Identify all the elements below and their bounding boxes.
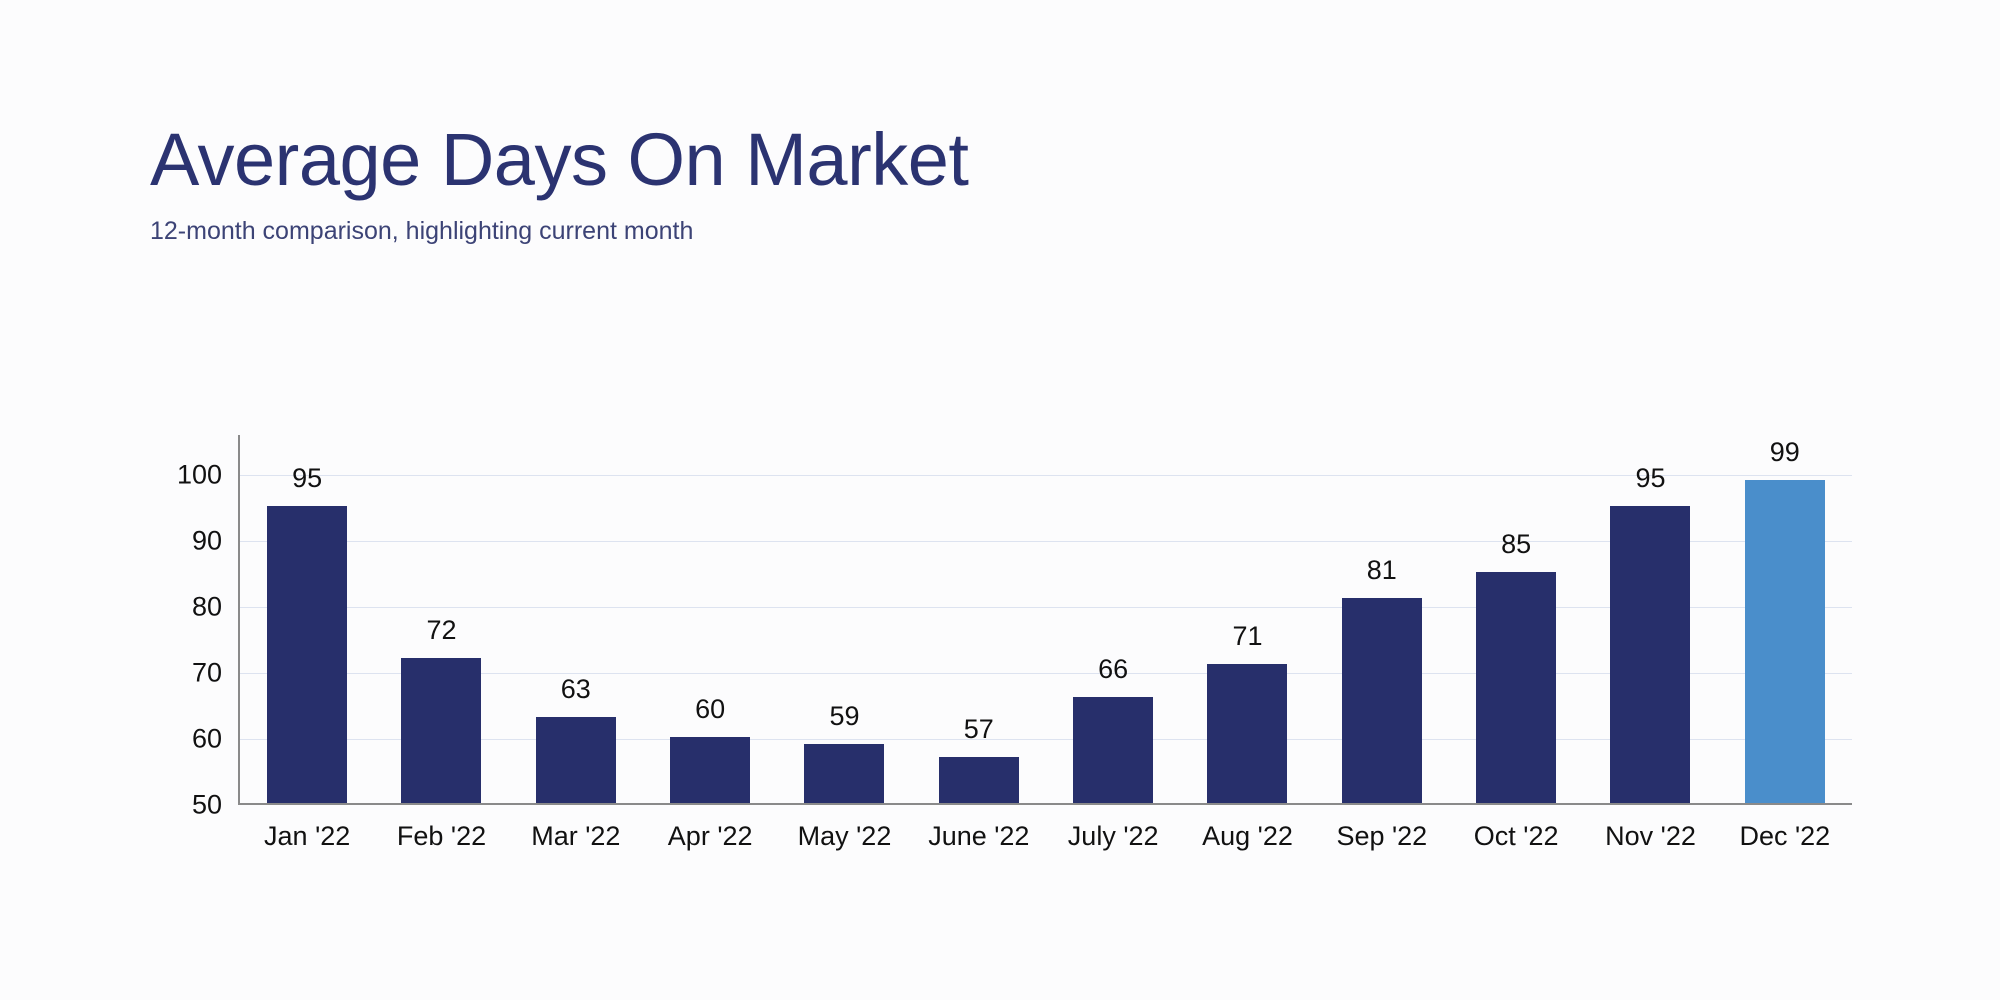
slide-canvas: Average Days On Market 12-month comparis… (0, 0, 2000, 1000)
bar[interactable] (939, 757, 1019, 803)
bar-value-label: 59 (829, 703, 859, 730)
bar[interactable] (1342, 598, 1422, 803)
bar-value-label: 57 (964, 716, 994, 743)
y-tick-label: 60 (192, 726, 222, 753)
bar-value-label: 81 (1367, 557, 1397, 584)
bar[interactable] (401, 658, 481, 803)
x-tick-label: Oct '22 (1474, 820, 1559, 852)
bar-group[interactable]: 71 (1180, 435, 1314, 803)
bar-value-label: 63 (561, 676, 591, 703)
bar-value-label: 95 (1635, 465, 1665, 492)
bar[interactable] (1610, 506, 1690, 803)
y-tick-label: 80 (192, 594, 222, 621)
x-tick-label: Apr '22 (668, 820, 753, 852)
bar-value-label: 71 (1232, 623, 1262, 650)
bar[interactable] (1073, 697, 1153, 803)
bar-group[interactable]: 81 (1315, 435, 1449, 803)
x-tick-label: Nov '22 (1605, 820, 1696, 852)
x-tick-label: Sep '22 (1336, 820, 1427, 852)
bar[interactable] (804, 744, 884, 803)
bar-group[interactable]: 95 (240, 435, 374, 803)
y-tick-label: 90 (192, 528, 222, 555)
y-tick-label: 70 (192, 660, 222, 687)
bar-value-label: 85 (1501, 531, 1531, 558)
x-tick-label: Aug '22 (1202, 820, 1293, 852)
y-tick-label: 100 (177, 462, 222, 489)
bar-group[interactable]: 72 (374, 435, 508, 803)
bar-value-label: 99 (1770, 439, 1800, 466)
y-tick-label: 50 (192, 792, 222, 819)
chart-header: Average Days On Market 12-month comparis… (150, 118, 1850, 246)
bar-series: 957263605957667181859599 (240, 435, 1852, 803)
bar-group[interactable]: 99 (1718, 435, 1852, 803)
bar-value-label: 66 (1098, 656, 1128, 683)
x-tick-label: May '22 (798, 820, 892, 852)
bar[interactable] (536, 717, 616, 803)
bar[interactable] (267, 506, 347, 803)
bar-group[interactable]: 95 (1583, 435, 1717, 803)
x-tick-label: Feb '22 (397, 820, 486, 852)
bar-group[interactable]: 57 (912, 435, 1046, 803)
x-axis-tick-labels: Jan '22Feb '22Mar '22Apr '22May '22June … (240, 820, 1852, 860)
bar-highlighted[interactable] (1745, 480, 1825, 803)
page-subtitle: 12-month comparison, highlighting curren… (150, 216, 1850, 246)
x-tick-label: June '22 (928, 820, 1029, 852)
bar-group[interactable]: 59 (777, 435, 911, 803)
bar-chart: 5060708090100 957263605957667181859599 J… (150, 420, 1860, 860)
bar[interactable] (670, 737, 750, 803)
bar-group[interactable]: 60 (643, 435, 777, 803)
y-axis-tick-labels: 5060708090100 (150, 435, 222, 765)
bar-group[interactable]: 66 (1046, 435, 1180, 803)
bar-group[interactable]: 63 (509, 435, 643, 803)
bar[interactable] (1207, 664, 1287, 803)
x-tick-label: July '22 (1068, 820, 1159, 852)
bar[interactable] (1476, 572, 1556, 803)
x-tick-label: Jan '22 (264, 820, 350, 852)
x-axis-line (238, 803, 1852, 805)
bar-value-label: 95 (292, 465, 322, 492)
bar-group[interactable]: 85 (1449, 435, 1583, 803)
bar-value-label: 60 (695, 696, 725, 723)
x-tick-label: Mar '22 (531, 820, 620, 852)
bar-value-label: 72 (426, 617, 456, 644)
x-tick-label: Dec '22 (1739, 820, 1830, 852)
page-title: Average Days On Market (150, 118, 1850, 202)
plot-area: 957263605957667181859599 (238, 435, 1852, 805)
